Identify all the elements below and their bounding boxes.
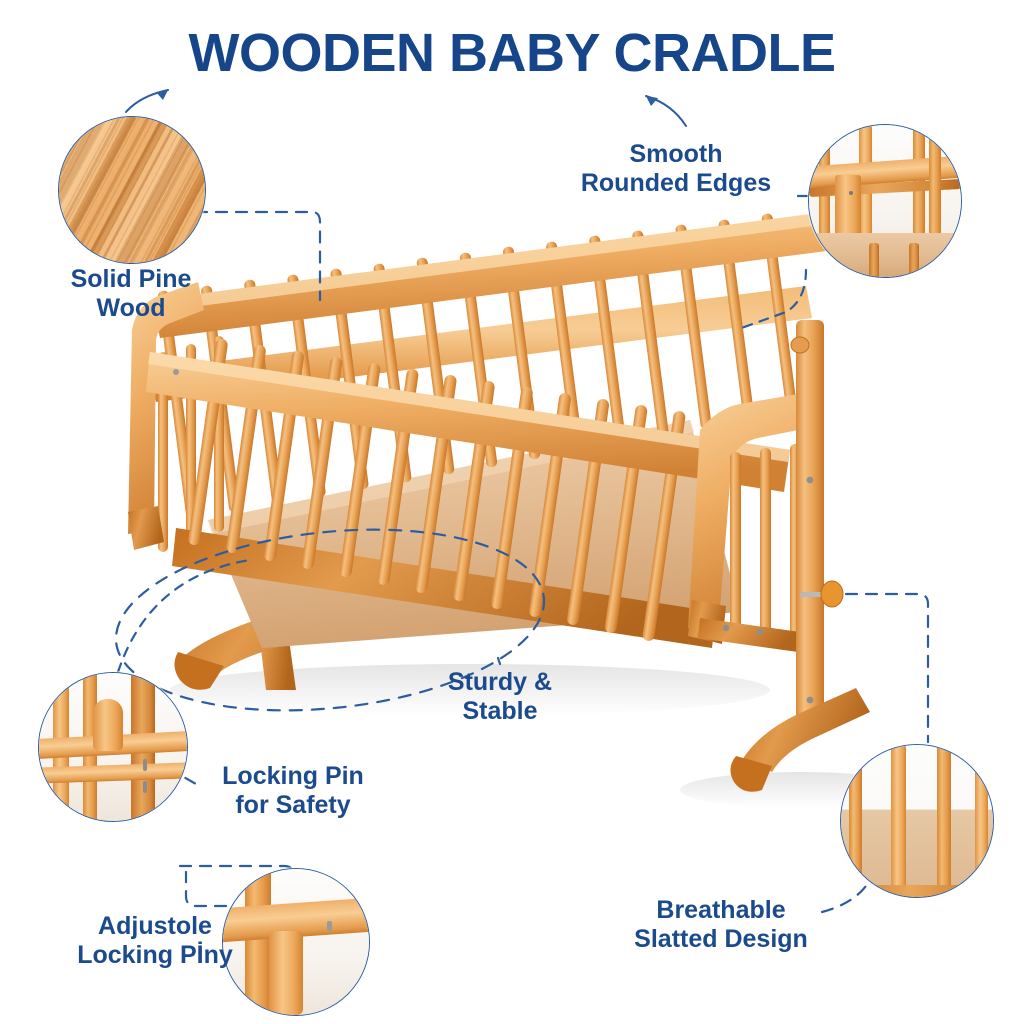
detail-circle-rounded-edges bbox=[808, 124, 962, 278]
page-title: WOODEN BABY CRADLE bbox=[0, 22, 1024, 84]
detail-circle-locking-pin bbox=[38, 672, 188, 822]
corner-post-closeup bbox=[809, 125, 961, 277]
callout-label-sturdy-stable: Sturdy & Stable bbox=[392, 668, 608, 726]
slats-mattress-closeup bbox=[841, 745, 993, 897]
callout-label-locking-pin-for-safety: Locking Pin for Safety bbox=[178, 762, 408, 820]
callout-label-smooth-rounded-edges: Smooth Rounded Edges bbox=[536, 140, 816, 198]
callout-label-adjustable-locking-pin: Adjustole Locking Pİny bbox=[46, 912, 264, 970]
callout-label-solid-pine-wood: Solid Pine Wood bbox=[18, 265, 244, 323]
joint-structure-closeup bbox=[39, 673, 187, 821]
infographic-canvas: WOODEN BABY CRADLE bbox=[0, 0, 1024, 1024]
detail-circle-slatted-design bbox=[840, 744, 994, 898]
detail-circle-wood-grain bbox=[58, 116, 206, 264]
callout-label-breathable-slatted-design: Breathable Slatted Design bbox=[596, 896, 846, 954]
wood-grain-texture bbox=[59, 117, 205, 263]
